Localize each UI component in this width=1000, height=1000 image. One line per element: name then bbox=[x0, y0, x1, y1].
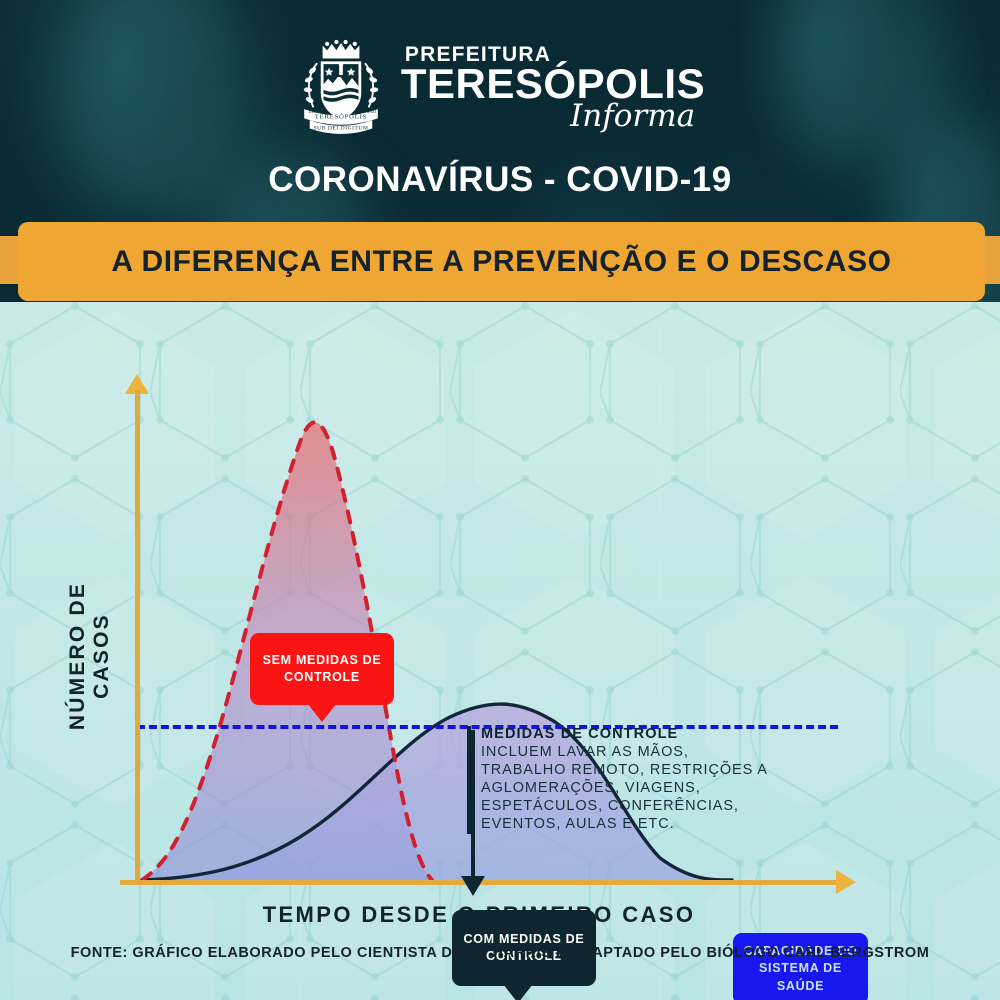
y-axis bbox=[135, 390, 140, 884]
source-note: FONTE: GRÁFICO ELABORADO PELO CIENTISTA … bbox=[0, 945, 1000, 961]
wordmark: PREFEITURA TERESÓPOLIS Informa bbox=[401, 44, 705, 132]
y-axis-label: NÚMERO DE CASOS bbox=[66, 541, 114, 771]
note-accent-bar bbox=[467, 726, 471, 834]
callout-tail bbox=[503, 984, 533, 1000]
svg-text:SUB DEI DIGITUM: SUB DEI DIGITUM bbox=[313, 125, 368, 131]
measures-arrow-head-icon bbox=[461, 876, 485, 896]
brand-lockup: TERESÓPOLIS SUB DEI DIGITUM 1885 1891 PR… bbox=[0, 30, 1000, 145]
teresopolis-coat-of-arms-icon: TERESÓPOLIS SUB DEI DIGITUM 1885 1891 bbox=[295, 39, 387, 137]
control-measures-note: MEDIDAS DE CONTROLE INCLUEM LAVAR AS MÃO… bbox=[467, 726, 768, 834]
note-text: INCLUEM LAVAR AS MÃOS, TRABALHO REMOTO, … bbox=[481, 744, 768, 834]
svg-text:TERESÓPOLIS: TERESÓPOLIS bbox=[315, 112, 367, 120]
svg-text:1891: 1891 bbox=[367, 108, 378, 114]
epidemic-curves bbox=[0, 302, 1000, 1000]
page-title: CORONAVÍRUS - COVID-19 bbox=[0, 160, 1000, 200]
brand-suffix: Informa bbox=[570, 101, 695, 132]
callout-no-measures-label: SEM MEDIDAS DE CONTROLE bbox=[263, 652, 382, 686]
callout-no-measures[interactable]: SEM MEDIDAS DE CONTROLE bbox=[250, 633, 394, 705]
callout-health-capacity[interactable]: CAPACIDADE DO SISTEMA DE SAÚDE bbox=[733, 933, 868, 1000]
subtitle-banner: A DIFERENÇA ENTRE A PREVENÇÃO E O DESCAS… bbox=[18, 222, 985, 301]
x-axis-arrow-icon bbox=[836, 870, 856, 894]
note-title: MEDIDAS DE CONTROLE bbox=[481, 726, 768, 744]
callout-tail bbox=[307, 703, 337, 722]
chart-area: NÚMERO DE CASOS TEMPO DESDE O PRIMEIRO C… bbox=[0, 302, 1000, 1000]
banner-title: A DIFERENÇA ENTRE A PREVENÇÃO E O DESCAS… bbox=[111, 245, 891, 279]
note-body: MEDIDAS DE CONTROLE INCLUEM LAVAR AS MÃO… bbox=[481, 726, 768, 834]
svg-text:1885: 1885 bbox=[308, 108, 319, 114]
